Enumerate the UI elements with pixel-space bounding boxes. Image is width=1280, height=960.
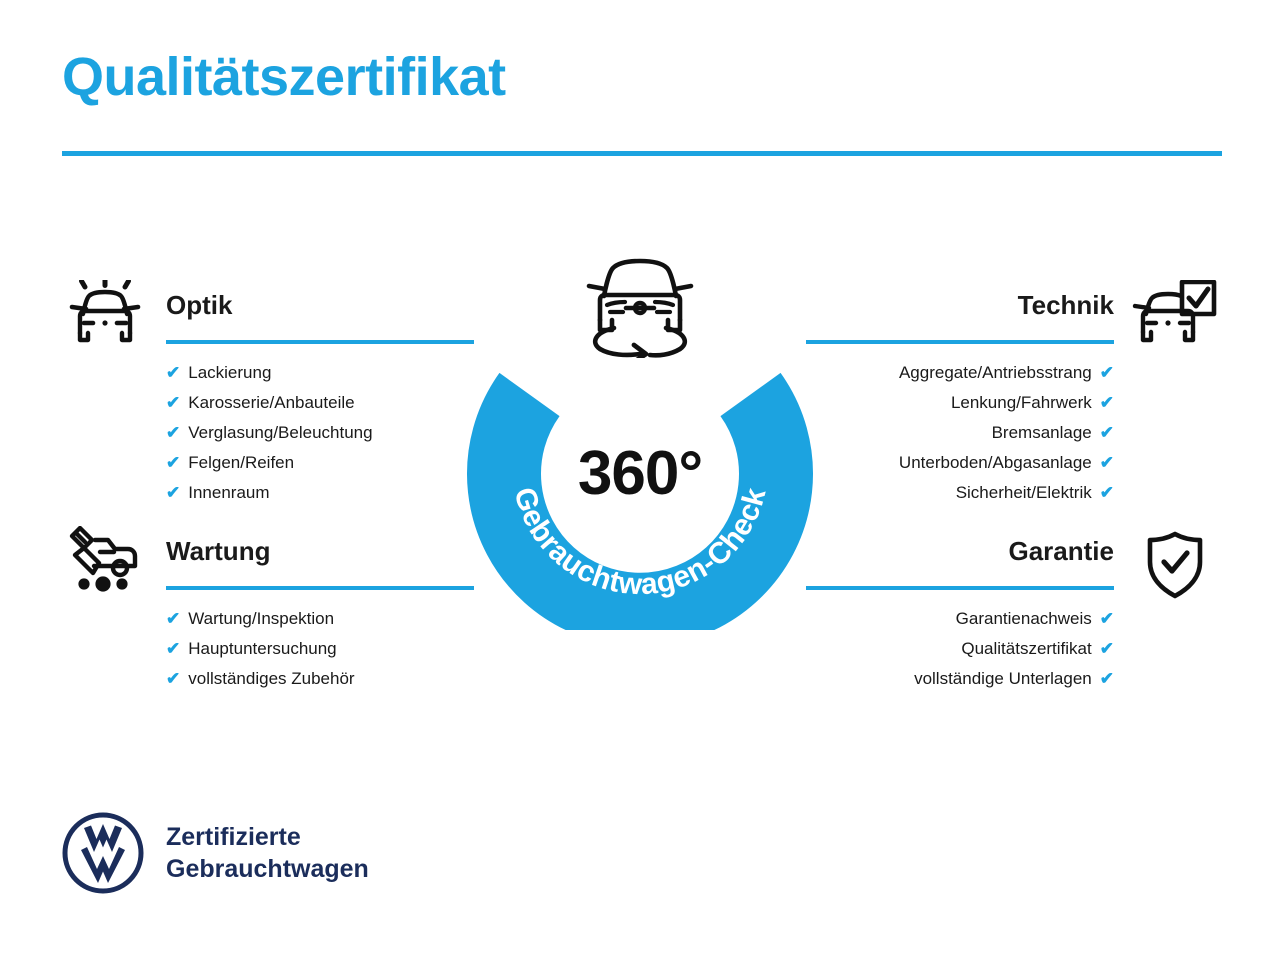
check-icon: ✔ bbox=[1100, 634, 1114, 664]
list-item-label: Wartung/Inspektion bbox=[188, 604, 334, 634]
check-icon: ✔ bbox=[166, 388, 180, 418]
car-shine-icon bbox=[62, 280, 148, 350]
section-technik: Technik ✔ Aggregate/Antriebsstrang ✔ Len… bbox=[798, 288, 1218, 508]
section-optik-divider bbox=[166, 340, 474, 344]
360-check-badge: Gebrauchtwagen-Check 360° bbox=[466, 250, 814, 630]
list-item: ✔ vollständige Unterlagen bbox=[798, 664, 1218, 694]
list-item-label: vollständige Unterlagen bbox=[914, 664, 1092, 694]
list-item-label: vollständiges Zubehör bbox=[188, 664, 354, 694]
list-item: ✔ Aggregate/Antriebsstrang bbox=[798, 358, 1218, 388]
list-item: ✔ Qualitätszertifikat bbox=[798, 634, 1218, 664]
check-icon: ✔ bbox=[1100, 388, 1114, 418]
check-icon: ✔ bbox=[166, 448, 180, 478]
list-item-label: Bremsanlage bbox=[992, 418, 1092, 448]
list-item: ✔ Garantienachweis bbox=[798, 604, 1218, 634]
list-item: ✔ Innenraum bbox=[62, 478, 482, 508]
check-icon: ✔ bbox=[1100, 418, 1114, 448]
car-rotate-360-icon bbox=[574, 250, 706, 358]
section-wartung-header: Wartung bbox=[62, 534, 482, 590]
car-checkbox-icon bbox=[1132, 280, 1218, 350]
section-optik-list: ✔ Lackierung ✔ Karosserie/Anbauteile ✔ V… bbox=[62, 344, 482, 508]
list-item: ✔ Sicherheit/Elektrik bbox=[798, 478, 1218, 508]
check-icon: ✔ bbox=[1100, 358, 1114, 388]
check-icon: ✔ bbox=[1100, 478, 1114, 508]
check-icon: ✔ bbox=[166, 478, 180, 508]
list-item-label: Aggregate/Antriebsstrang bbox=[899, 358, 1092, 388]
list-item-label: Verglasung/Beleuchtung bbox=[188, 418, 372, 448]
list-item: ✔ Felgen/Reifen bbox=[62, 448, 482, 478]
list-item: ✔ Lackierung bbox=[62, 358, 482, 388]
check-icon: ✔ bbox=[1100, 664, 1114, 694]
check-icon: ✔ bbox=[166, 664, 180, 694]
section-garantie-list: ✔ Garantienachweis ✔ Qualitätszertifikat… bbox=[798, 590, 1218, 694]
check-icon: ✔ bbox=[1100, 604, 1114, 634]
check-icon: ✔ bbox=[166, 358, 180, 388]
section-garantie-divider bbox=[806, 586, 1114, 590]
list-item: ✔ Hauptuntersuchung bbox=[62, 634, 482, 664]
list-item-label: Felgen/Reifen bbox=[188, 448, 294, 478]
car-service-pen-icon bbox=[62, 526, 148, 596]
check-icon: ✔ bbox=[166, 604, 180, 634]
shield-check-icon bbox=[1132, 530, 1218, 600]
section-wartung: Wartung ✔ Wartung/Inspektion ✔ Hauptunte… bbox=[62, 534, 482, 694]
list-item-label: Garantienachweis bbox=[956, 604, 1092, 634]
list-item-label: Lackierung bbox=[188, 358, 271, 388]
list-item: ✔ vollständiges Zubehör bbox=[62, 664, 482, 694]
section-optik-header: Optik bbox=[62, 288, 482, 344]
list-item-label: Unterboden/Abgasanlage bbox=[899, 448, 1092, 478]
list-item-label: Karosserie/Anbauteile bbox=[188, 388, 354, 418]
section-technik-list: ✔ Aggregate/Antriebsstrang ✔ Lenkung/Fah… bbox=[798, 344, 1218, 508]
section-technik-header: Technik bbox=[798, 288, 1218, 344]
list-item: ✔ Lenkung/Fahrwerk bbox=[798, 388, 1218, 418]
section-garantie: Garantie ✔ Garantienachweis ✔ Qualitätsz… bbox=[798, 534, 1218, 694]
list-item: ✔ Karosserie/Anbauteile bbox=[62, 388, 482, 418]
footer-line-1: Zertifizierte bbox=[166, 821, 369, 853]
volkswagen-logo bbox=[62, 812, 144, 894]
list-item-label: Innenraum bbox=[188, 478, 269, 508]
list-item-label: Qualitätszertifikat bbox=[961, 634, 1091, 664]
check-icon: ✔ bbox=[166, 634, 180, 664]
footer-brand: Zertifizierte Gebrauchtwagen bbox=[62, 812, 369, 894]
badge-center-label: 360° bbox=[466, 438, 814, 509]
section-wartung-list: ✔ Wartung/Inspektion ✔ Hauptuntersuchung… bbox=[62, 590, 482, 694]
check-icon: ✔ bbox=[166, 418, 180, 448]
check-icon: ✔ bbox=[1100, 448, 1114, 478]
section-wartung-divider bbox=[166, 586, 474, 590]
right-column: Technik ✔ Aggregate/Antriebsstrang ✔ Len… bbox=[798, 0, 1218, 960]
list-item: ✔ Bremsanlage bbox=[798, 418, 1218, 448]
footer-text: Zertifizierte Gebrauchtwagen bbox=[166, 821, 369, 885]
section-garantie-header: Garantie bbox=[798, 534, 1218, 590]
list-item-label: Hauptuntersuchung bbox=[188, 634, 336, 664]
list-item: ✔ Unterboden/Abgasanlage bbox=[798, 448, 1218, 478]
list-item-label: Lenkung/Fahrwerk bbox=[951, 388, 1092, 418]
list-item-label: Sicherheit/Elektrik bbox=[956, 478, 1092, 508]
section-technik-divider bbox=[806, 340, 1114, 344]
list-item: ✔ Wartung/Inspektion bbox=[62, 604, 482, 634]
section-optik: Optik ✔ Lackierung ✔ Karosserie/Anbautei… bbox=[62, 288, 482, 508]
list-item: ✔ Verglasung/Beleuchtung bbox=[62, 418, 482, 448]
footer-line-2: Gebrauchtwagen bbox=[166, 853, 369, 885]
